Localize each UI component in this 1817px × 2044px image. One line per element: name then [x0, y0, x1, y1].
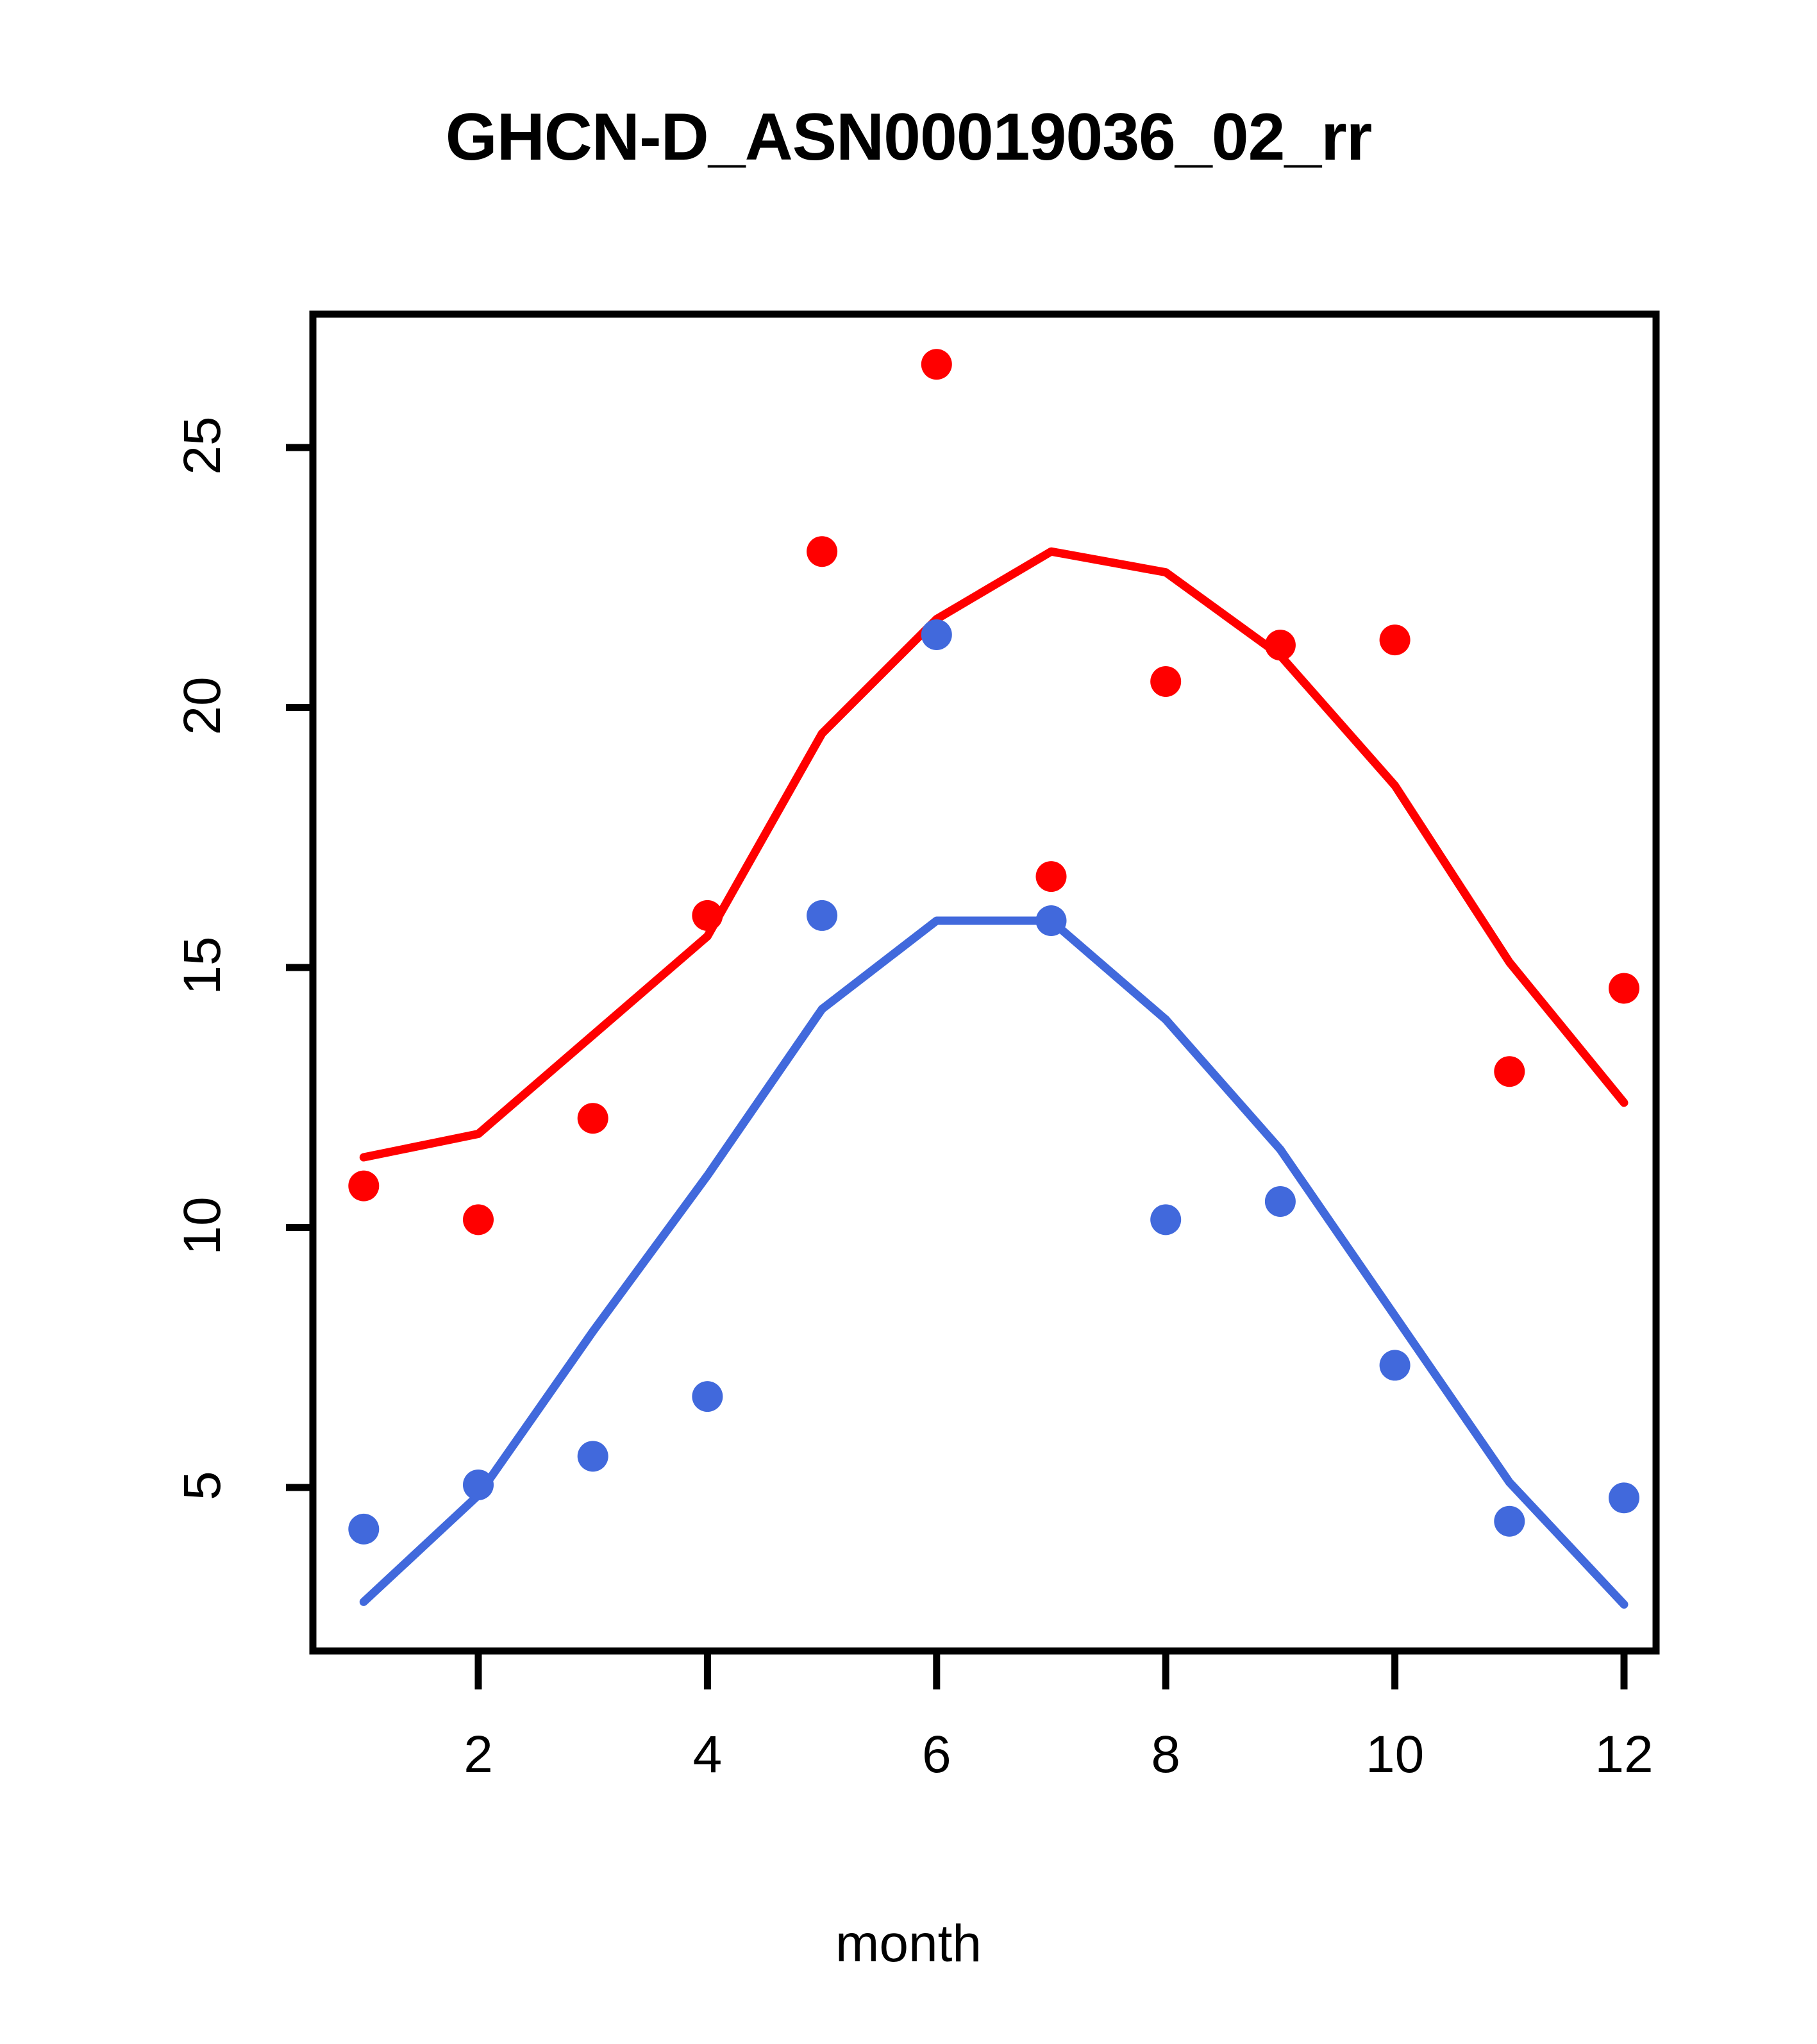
- data-point: [1036, 905, 1067, 936]
- data-point: [921, 349, 952, 380]
- data-point: [1380, 624, 1411, 655]
- data-point: [348, 1514, 379, 1545]
- x-axis-label: month: [0, 1914, 1817, 1974]
- y-axis-tick-label: 25: [172, 375, 233, 516]
- data-point: [807, 536, 837, 567]
- data-point: [692, 900, 723, 931]
- y-axis-tick-label: 20: [172, 635, 233, 776]
- series-points: [348, 349, 1639, 1545]
- y-axis-tick-label: 5: [172, 1415, 233, 1556]
- data-point: [1150, 1204, 1181, 1235]
- data-point: [348, 1171, 379, 1202]
- data-point: [1494, 1056, 1525, 1087]
- chart-page: GHCN-D_ASN00019036_02_rr 510152025 24681…: [0, 0, 1817, 2044]
- data-point: [1380, 1350, 1411, 1380]
- series-line-1: [364, 551, 1624, 1157]
- data-point: [1265, 1186, 1296, 1217]
- data-point: [1609, 973, 1639, 1003]
- data-point: [1494, 1506, 1525, 1537]
- data-point: [578, 1103, 608, 1134]
- x-axis-tick-label: 12: [1553, 1725, 1695, 1785]
- x-axis-tick-label: 2: [408, 1725, 549, 1785]
- y-axis-ticks: [286, 448, 313, 1487]
- series-lines: [364, 551, 1624, 1604]
- y-axis-tick-label: 10: [172, 1155, 233, 1296]
- x-axis-tick-label: 10: [1325, 1725, 1466, 1785]
- data-point: [1609, 1482, 1639, 1513]
- data-point: [463, 1470, 494, 1500]
- x-axis-tick-label: 8: [1095, 1725, 1236, 1785]
- data-point: [692, 1381, 723, 1412]
- data-point: [463, 1204, 494, 1235]
- x-axis-tick-label: 6: [866, 1725, 1007, 1785]
- x-axis-tick-label: 4: [637, 1725, 778, 1785]
- data-point: [807, 900, 837, 931]
- data-point: [578, 1441, 608, 1471]
- x-axis-ticks: [478, 1651, 1624, 1689]
- data-point: [921, 619, 952, 650]
- data-point: [1265, 630, 1296, 660]
- series-line-3: [364, 921, 1624, 1604]
- y-axis-tick-label: 15: [172, 895, 233, 1036]
- data-point: [1150, 666, 1181, 697]
- data-point: [1036, 861, 1067, 892]
